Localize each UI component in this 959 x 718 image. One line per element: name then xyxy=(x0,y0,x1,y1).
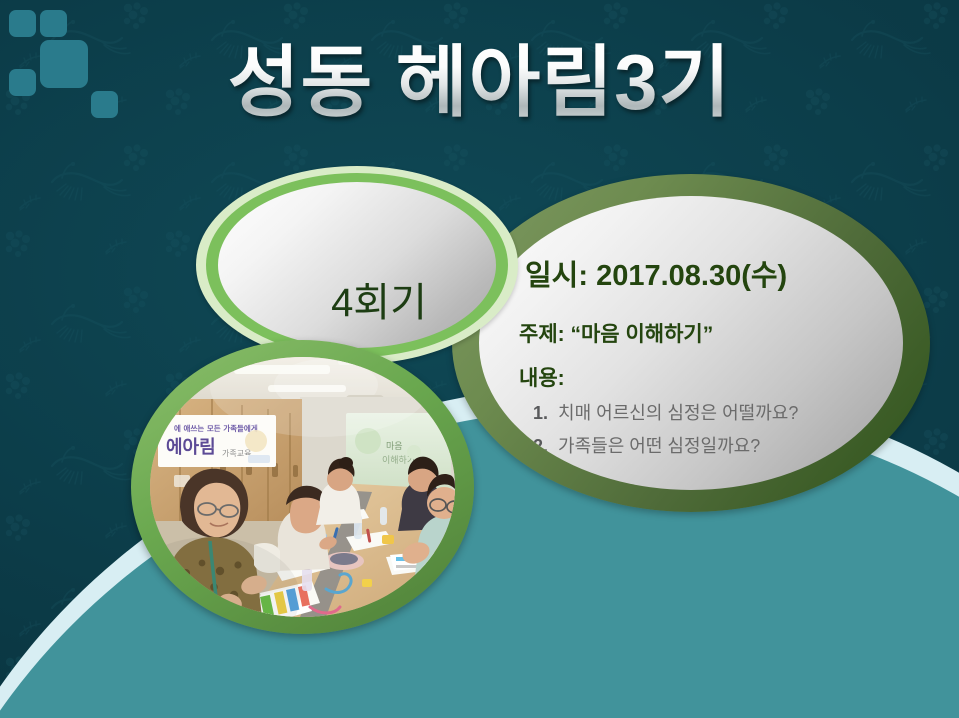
info-date: 일시: 2017.08.30(수) xyxy=(525,252,885,294)
banner-side-text: 가족교육 xyxy=(222,449,251,458)
photo-circle-frame: 마음 이해하기 xyxy=(131,340,474,634)
list-item-number: 2. xyxy=(533,436,548,456)
banner-subtext: 에 애쓰는 모든 가족들에게 xyxy=(174,423,258,433)
session-badge-inner-ring: 4회기 xyxy=(206,173,508,357)
classroom-photo: 마음 이해하기 xyxy=(150,357,455,617)
list-item-number: 1. xyxy=(533,403,548,423)
list-item-text: 치매 어르신의 심정은 어떨까요? xyxy=(558,403,798,423)
session-badge-ellipse: 4회기 xyxy=(196,166,518,364)
session-badge-face: 4회기 xyxy=(218,182,496,348)
list-item-text: 가족들은 어떤 심정일까요? xyxy=(558,436,760,456)
banner-main-text: 에아림 xyxy=(166,437,216,458)
info-content-label: 내용: xyxy=(519,362,885,392)
presentation-slide: 성동 헤아림3기 일시: 2017.08.30(수) 주제: “마음 이해하기”… xyxy=(0,0,959,718)
rounded-square-decoration-2 xyxy=(40,10,67,37)
info-text-block: 일시: 2017.08.30(수) 주제: “마음 이해하기” 내용: 1. 치… xyxy=(479,196,903,490)
info-topic: 주제: “마음 이해하기” xyxy=(519,318,885,348)
photo-circle-image: 마음 이해하기 xyxy=(150,357,455,617)
info-content-list: 1. 치매 어르신의 심정은 어떨까요? 2. 가족들은 어떤 심정일까요? xyxy=(511,399,885,458)
list-item: 2. 가족들은 어떤 심정일까요? xyxy=(533,432,885,458)
slide-title: 성동 헤아림3기 xyxy=(0,42,959,124)
projector-screen-text-line1: 마음 xyxy=(386,441,403,452)
info-ellipse-face: 일시: 2017.08.30(수) 주제: “마음 이해하기” 내용: 1. 치… xyxy=(479,196,903,490)
session-badge-label: 4회기 xyxy=(331,270,427,328)
list-item: 1. 치매 어르신의 심정은 어떨까요? xyxy=(533,399,885,425)
info-ellipse: 일시: 2017.08.30(수) 주제: “마음 이해하기” 내용: 1. 치… xyxy=(452,174,930,512)
rounded-square-decoration-1 xyxy=(9,10,36,37)
